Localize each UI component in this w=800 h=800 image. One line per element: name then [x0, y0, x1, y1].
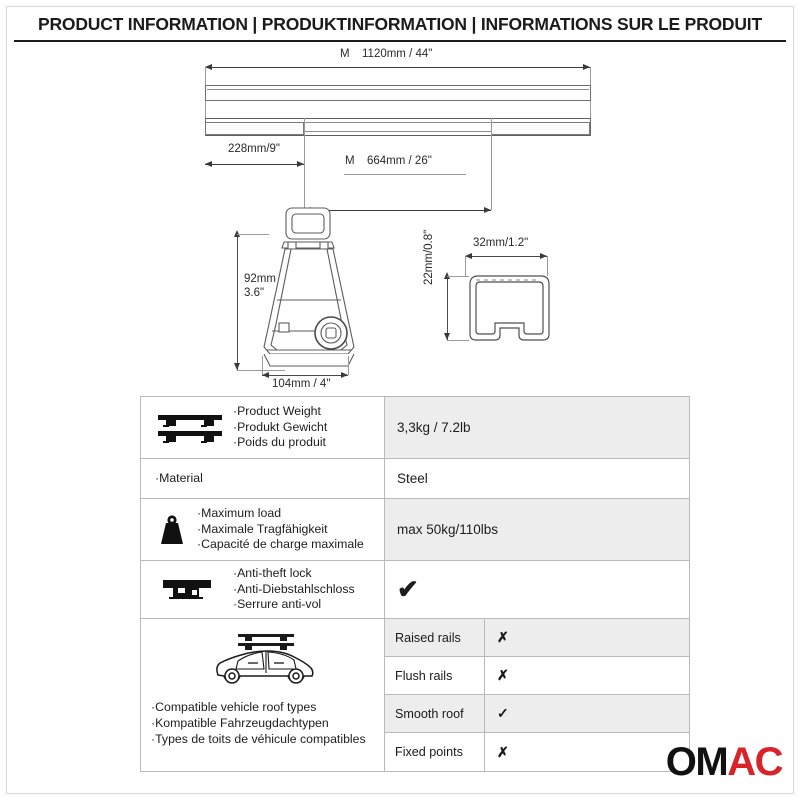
foot-width-arrow-left	[262, 372, 269, 378]
compatibility-label-cell: ·Compatible vehicle roof types ·Kompatib…	[141, 619, 385, 771]
compat-item-mark: ✗	[485, 619, 689, 656]
label-line-en: ·Anti-theft lock	[233, 566, 380, 582]
bar-top-view-edge-1	[205, 118, 591, 119]
specification-table: ·Product Weight ·Produkt Gewicht ·Poids …	[140, 396, 690, 772]
profile-height-dim-line	[447, 276, 448, 340]
table-row-maximum-load: ·Maximum load ·Maximale Tragfähigkeit ·C…	[141, 499, 689, 561]
spread-prefix: M	[345, 155, 355, 167]
foot-height-ext-top	[237, 234, 269, 235]
compat-line-de: ·Kompatible Fahrzeugdachtypen	[151, 716, 366, 732]
foot-ext-line-left	[304, 118, 305, 210]
label-line-fr: ·Serrure anti-vol	[233, 597, 380, 613]
offset-dim-line	[205, 164, 304, 165]
bar-length-label: 1120mm / 44"	[362, 48, 432, 60]
profile-width-arrow-left	[465, 253, 472, 259]
compat-item-flush-rails: Flush rails ✗	[385, 657, 689, 695]
compat-item-name: Raised rails	[385, 619, 485, 656]
profile-width-label: 32mm/1.2"	[473, 237, 528, 249]
bar-top-view-edge-4	[205, 135, 591, 136]
profile-height-arrow-down	[444, 333, 450, 340]
table-row-compatibility: ·Compatible vehicle roof types ·Kompatib…	[141, 619, 689, 771]
omac-logo: OMAC	[666, 742, 782, 782]
label-line-de: ·Maximale Tragfähigkeit	[197, 522, 380, 538]
profile-width-arrow-right	[540, 253, 547, 259]
label-line-fr: ·Poids du produit	[233, 435, 380, 451]
label-line-fr: ·Capacité de charge maximale	[197, 537, 380, 553]
bar-length-prefix: M	[340, 48, 350, 60]
foot-height-ext-bottom	[237, 370, 285, 371]
bar-side-groove	[207, 89, 589, 90]
spread-label: 664mm / 26"	[367, 155, 432, 167]
label-line-material: ·Material	[155, 471, 380, 487]
length-dim-arrow-right	[583, 64, 590, 70]
foot-height-dim-line	[237, 234, 238, 370]
bar-side-view	[205, 85, 591, 101]
length-dim-line	[205, 67, 590, 68]
foot-width-label: 104mm / 4"	[272, 378, 330, 390]
foot-height-arrow-down	[234, 363, 240, 370]
spread-label-underline	[344, 174, 466, 175]
page-title: PRODUCT INFORMATION | PRODUKTINFORMATION…	[0, 14, 800, 35]
compat-item-name: Fixed points	[385, 733, 485, 771]
row-label-cell: ·Product Weight ·Produkt Gewicht ·Poids …	[141, 397, 385, 458]
profile-height-label: 22mm/0.8"	[423, 230, 435, 285]
foot-width-arrow-right	[341, 372, 348, 378]
compat-line-fr: ·Types de toits de véhicule compatibles	[151, 732, 366, 748]
row-label-cell: ·Material	[141, 459, 385, 498]
technical-drawing: M 1120mm / 44" 228mm/9" M 664mm / 26"	[0, 44, 800, 389]
row-label-text: ·Maximum load ·Maximale Tragfähigkeit ·C…	[197, 506, 380, 553]
label-line-en: ·Product Weight	[233, 404, 380, 420]
table-row-material: ·Material Steel	[141, 459, 689, 499]
header-divider	[14, 40, 786, 42]
logo-text-ac: AC	[727, 740, 782, 784]
label-line-de: ·Produkt Gewicht	[233, 420, 380, 436]
row-value-product-weight: 3,3kg / 7.2lb	[385, 397, 689, 458]
offset-dim-arrow-left	[205, 161, 212, 167]
row-label-text: ·Product Weight ·Produkt Gewicht ·Poids …	[233, 404, 380, 451]
compatibility-label-text: ·Compatible vehicle roof types ·Kompatib…	[151, 700, 366, 748]
compat-item-name: Smooth roof	[385, 695, 485, 732]
offset-dim-arrow-right	[297, 161, 304, 167]
foot-width-ext-left	[262, 356, 263, 375]
weight-icon	[147, 513, 197, 547]
roof-bars-icon	[147, 411, 233, 445]
label-line-de: ·Anti-Diebstahlschloss	[233, 582, 380, 598]
foot-height-label-mm: 92mm	[244, 273, 276, 285]
compat-item-raised-rails: Raised rails ✗	[385, 619, 689, 657]
foot-footprint-left	[205, 122, 304, 135]
table-row-anti-theft-lock: ·Anti-theft lock ·Anti-Diebstahlschloss …	[141, 561, 689, 619]
row-label-cell: ·Anti-theft lock ·Anti-Diebstahlschloss …	[141, 561, 385, 618]
compat-item-mark: ✓	[485, 695, 689, 732]
compatibility-options-list: Raised rails ✗ Flush rails ✗ Smooth roof…	[385, 619, 689, 771]
lock-icon	[147, 576, 233, 604]
row-label-text: ·Anti-theft lock ·Anti-Diebstahlschloss …	[233, 566, 380, 613]
foot-height-label-in: 3.6"	[244, 287, 264, 299]
compat-item-name: Flush rails	[385, 657, 485, 694]
car-with-rack-icon	[208, 631, 320, 694]
foot-width-dim-line	[262, 375, 348, 376]
compat-item-fixed-points: Fixed points ✗	[385, 733, 689, 771]
row-value-material: Steel	[385, 459, 689, 498]
row-label-text: ·Material	[147, 471, 380, 487]
offset-label: 228mm/9"	[228, 143, 280, 155]
profile-width-dim-line	[465, 256, 547, 257]
compat-item-mark: ✗	[485, 657, 689, 694]
foot-width-ext-right	[348, 356, 349, 375]
bar-cross-section-figure	[462, 272, 557, 348]
row-label-cell: ·Maximum load ·Maximale Tragfähigkeit ·C…	[141, 499, 385, 560]
compat-item-smooth-roof: Smooth roof ✓	[385, 695, 689, 733]
length-dim-arrow-left	[205, 64, 212, 70]
spread-dim-arrow-right	[484, 207, 491, 213]
compat-line-en: ·Compatible vehicle roof types	[151, 700, 366, 716]
logo-text-om: OM	[666, 740, 727, 784]
compat-item-mark: ✗	[485, 733, 689, 771]
row-value-maximum-load: max 50kg/110lbs	[385, 499, 689, 560]
row-value-anti-theft-lock: ✔	[385, 561, 689, 618]
label-line-en: ·Maximum load	[197, 506, 380, 522]
foot-footprint-right	[491, 122, 590, 135]
foot-ext-line-right	[491, 118, 492, 210]
table-row-product-weight: ·Product Weight ·Produkt Gewicht ·Poids …	[141, 397, 689, 459]
bar-top-view-end-right	[590, 118, 591, 136]
